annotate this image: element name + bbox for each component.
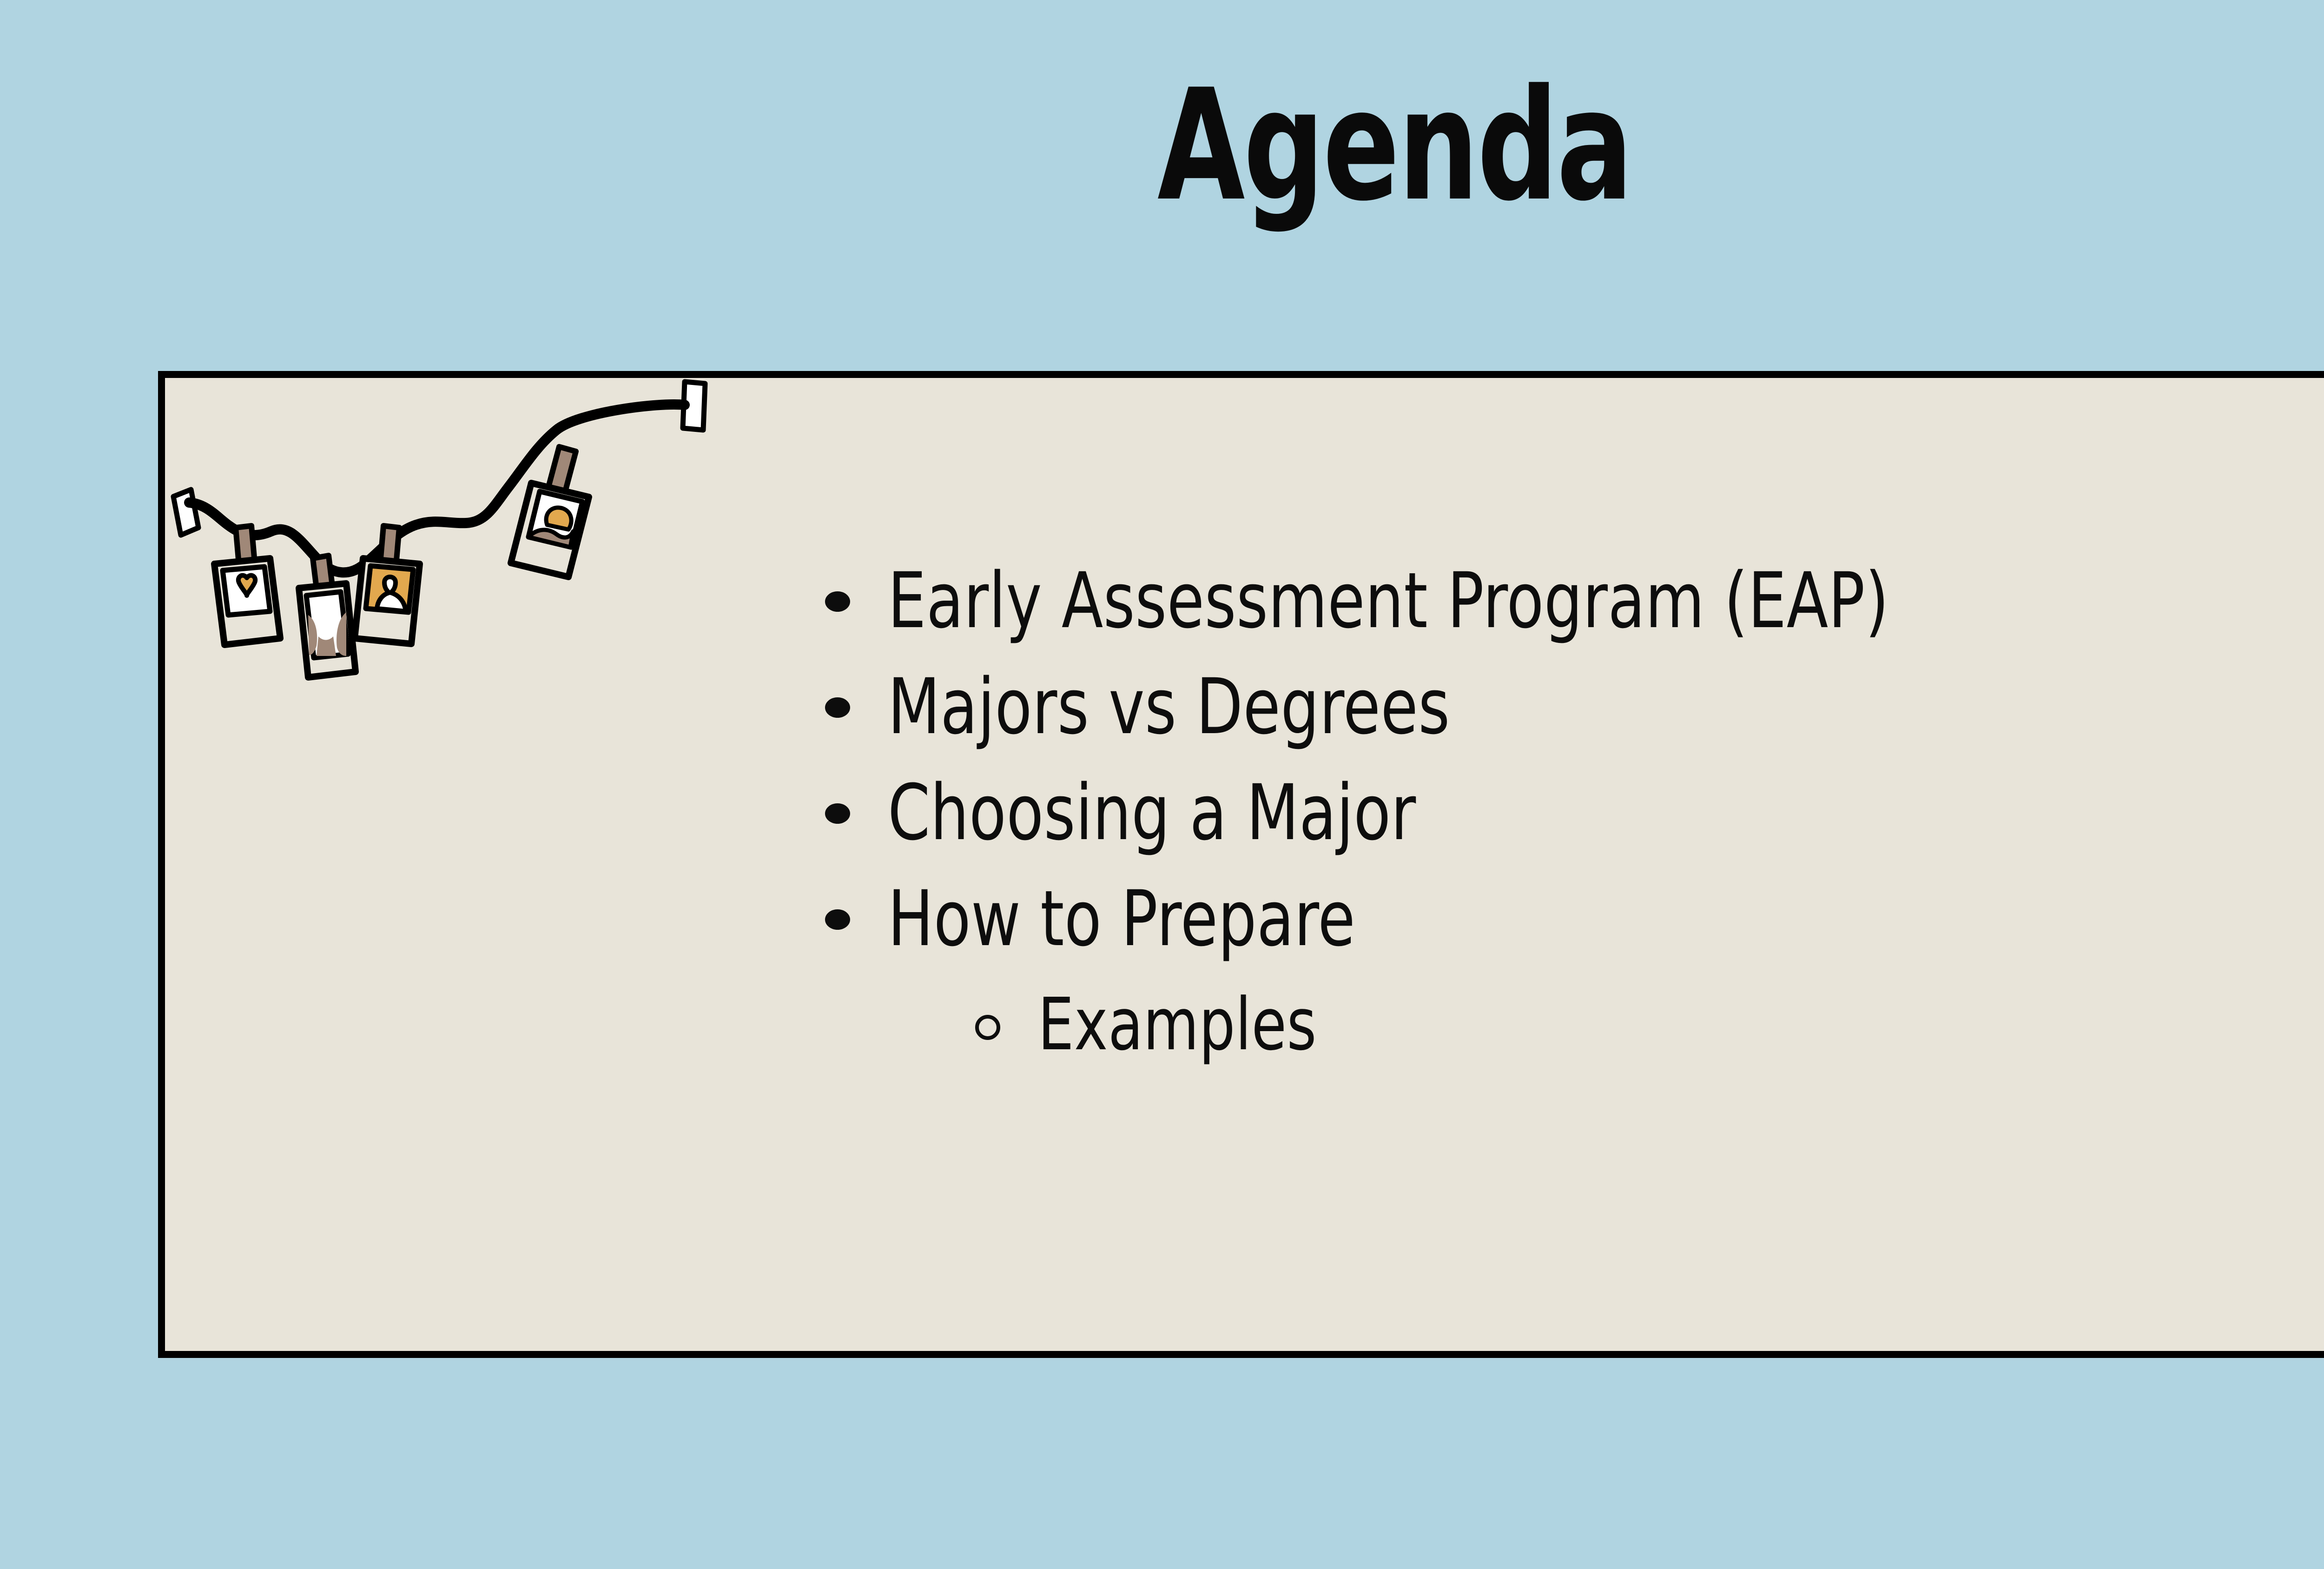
- photo-window-4: [528, 491, 582, 547]
- list-item: Choosing a Major: [825, 760, 2324, 866]
- list-item-label: Majors vs Degrees: [888, 654, 1450, 760]
- photo-4-landscape: [511, 447, 589, 577]
- bullet-disc-icon: [825, 662, 888, 768]
- abstract-shape-bottom: [317, 636, 336, 656]
- list-item-sub: Examples: [825, 972, 2324, 1078]
- list-item-label: Examples: [1038, 972, 1317, 1078]
- person-icon: [377, 577, 406, 611]
- page-title: Agenda: [251, 69, 2324, 222]
- polaroid-frame-2: [299, 583, 356, 677]
- photo-2-abstract: [299, 556, 356, 677]
- abstract-shape-left: [308, 615, 317, 655]
- bullet-disc-icon: [825, 768, 888, 874]
- list-item-label: How to Prepare: [888, 866, 1355, 972]
- slide-root: Agenda: [0, 0, 2324, 1569]
- photo-1-heart: [214, 526, 280, 645]
- list-item: How to Prepare: [825, 866, 2324, 972]
- hills-icon: [529, 530, 573, 547]
- photo-3-portrait: [355, 526, 420, 644]
- bullet-disc-icon: [825, 556, 888, 662]
- abstract-shape-right: [337, 612, 346, 656]
- clothespin-2-icon: [313, 556, 335, 611]
- clothespin-1-icon: [236, 526, 256, 581]
- list-item-label: Choosing a Major: [888, 760, 1416, 866]
- bullet-disc-icon: [825, 874, 888, 980]
- clothespin-3-icon: [379, 526, 399, 582]
- polaroid-frame-1: [214, 558, 280, 645]
- photo-window-2: [306, 592, 348, 658]
- list-item: Early Assessment Program (EAP): [825, 548, 2324, 654]
- polaroid-frame-4: [511, 483, 589, 577]
- list-item-label: Early Assessment Program (EAP): [888, 548, 1889, 654]
- garland-string-icon: [189, 404, 685, 572]
- photo-window-1: [223, 567, 270, 615]
- tape-left-icon: [173, 490, 198, 535]
- clothespin-4-icon: [544, 447, 576, 507]
- agenda-bullet-list: Early Assessment Program (EAP) Majors vs…: [825, 548, 2324, 1078]
- content-panel: Early Assessment Program (EAP) Majors vs…: [158, 371, 2324, 1358]
- hanging-photo-garland-illustration: [165, 378, 797, 759]
- bullet-circle-icon: [975, 979, 1038, 1085]
- tape-right-icon: [683, 382, 705, 430]
- heart-icon: [238, 576, 255, 596]
- photo-window-3: [366, 566, 413, 612]
- polaroid-frame-3: [355, 558, 420, 644]
- list-item: Majors vs Degrees: [825, 654, 2324, 760]
- sun-icon: [546, 508, 571, 530]
